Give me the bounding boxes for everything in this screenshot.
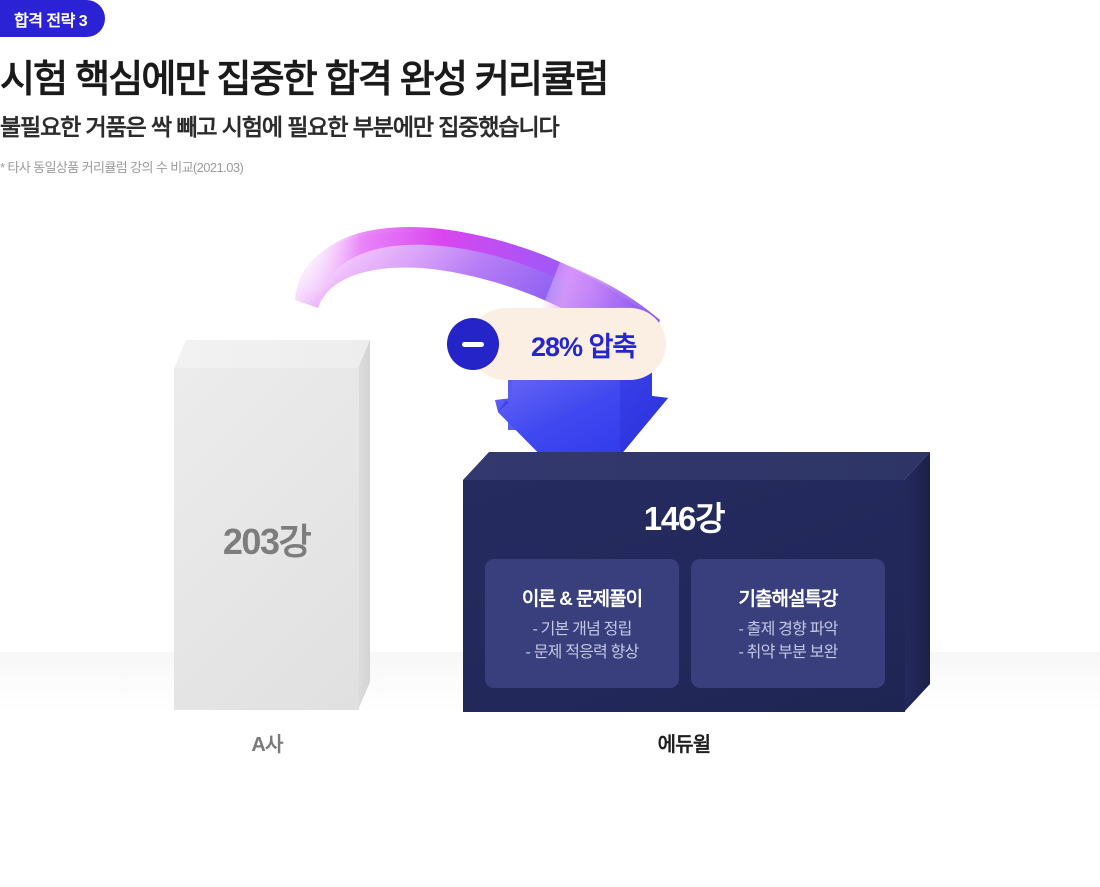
bar-eduwill-top-face xyxy=(463,452,930,480)
page-subtitle: 불필요한 거품은 싹 빼고 시험에 필요한 부분에만 집중했습니다 xyxy=(0,108,559,142)
curriculum-card-pastexam-item-2: - 취약 부분 보완 xyxy=(739,642,838,665)
bar-competitor-value: 203강 xyxy=(174,368,359,710)
minus-glyph xyxy=(462,342,484,347)
strategy-badge-label: 합격 전략 3 xyxy=(14,7,87,31)
bar-competitor-top-face xyxy=(174,340,370,368)
curriculum-card-theory-item-1: - 기본 개념 정립 xyxy=(533,619,632,642)
bar-competitor-label: A사 xyxy=(174,728,360,757)
curriculum-card-theory-item-2: - 문제 적응력 향상 xyxy=(526,642,639,665)
curriculum-card-pastexam-title: 기출해설특강 xyxy=(739,584,838,611)
curriculum-card-theory: 이론 & 문제풀이 - 기본 개념 정립 - 문제 적응력 향상 xyxy=(485,559,679,688)
strategy-badge: 합격 전략 3 xyxy=(0,0,105,37)
bar-eduwill-label: 에듀윌 xyxy=(463,728,905,757)
curriculum-card-theory-title: 이론 & 문제풀이 xyxy=(522,584,642,611)
curriculum-card-pastexam-item-1: - 출제 경향 파악 xyxy=(739,619,838,642)
minus-circle-icon xyxy=(447,318,499,370)
curriculum-card-pastexam: 기출해설특강 - 출제 경향 파악 - 취약 부분 보완 xyxy=(691,559,885,688)
compression-callout-label: 28% 압축 xyxy=(531,325,636,364)
bar-eduwill-value: 146강 xyxy=(463,492,905,540)
footnote-text: * 타사 동일상품 커리큘럼 강의 수 비교(2021.03) xyxy=(0,157,243,176)
curriculum-card-list: 이론 & 문제풀이 - 기본 개념 정립 - 문제 적응력 향상 기출해설특강 … xyxy=(485,559,885,688)
infographic-stage: 합격 전략 3 시험 핵심에만 집중한 합격 완성 커리큘럼 불필요한 거품은 … xyxy=(0,0,1100,887)
bar-competitor-side-face xyxy=(358,340,372,710)
page-title: 시험 핵심에만 집중한 합격 완성 커리큘럼 xyxy=(0,48,608,103)
